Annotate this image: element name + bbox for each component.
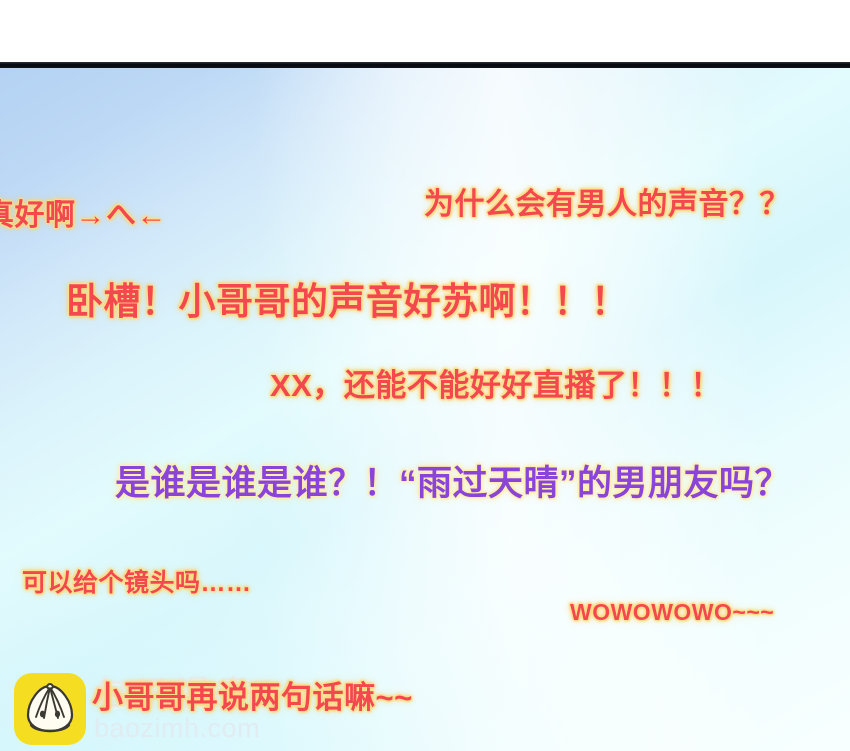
danmaku-comment-5: 可以给个镜头吗……: [22, 571, 252, 596]
danmaku-comment-2: 卧槽！小哥哥的声音好苏啊！！！: [66, 283, 629, 320]
baozi-bun-icon: [14, 673, 86, 745]
top-gutter: [0, 0, 850, 62]
danmaku-comment-4: 是谁是谁是谁？！“雨过天晴”的男朋友吗？: [115, 466, 790, 501]
danmaku-comment-6: WOWOWOWO~~~: [570, 601, 774, 624]
danmaku-comment-7: 小哥哥再说两句话嘛~~: [92, 682, 413, 713]
danmaku-comment-0: 真好啊→へ←: [0, 201, 167, 231]
danmaku-comment-3: XX，还能不能好好直播了！！！: [270, 370, 722, 401]
comic-page: 真好啊→へ← 为什么会有男人的声音？？ 卧槽！小哥哥的声音好苏啊！！！ XX，还…: [0, 0, 850, 751]
danmaku-comment-1: 为什么会有男人的声音？？: [424, 190, 790, 220]
watermark-site-url: baozimh.com: [94, 715, 260, 742]
comic-panel: 真好啊→へ← 为什么会有男人的声音？？ 卧槽！小哥哥的声音好苏啊！！！ XX，还…: [0, 68, 850, 751]
